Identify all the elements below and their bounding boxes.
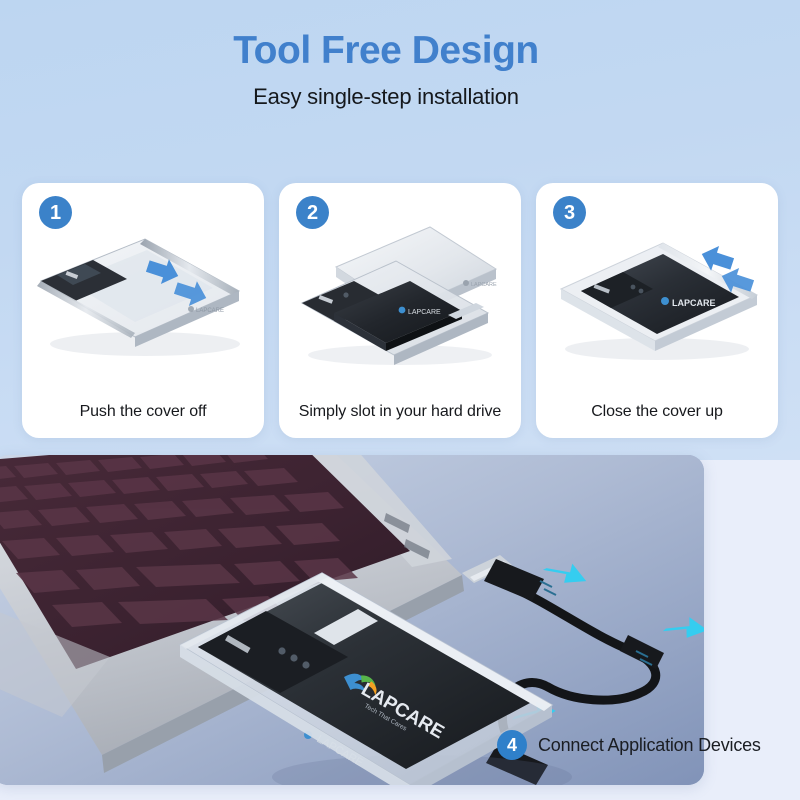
step-card-1[interactable]: 1 (22, 183, 264, 438)
step-card-2[interactable]: 2 (279, 183, 521, 438)
page-header: Tool Free Design Easy single-step instal… (0, 30, 800, 110)
enclosure-closed-icon: LAPCARE (536, 209, 778, 377)
step-badge-2: 2 (296, 196, 329, 229)
page-subtitle: Easy single-step installation (0, 84, 772, 110)
step-caption-2: Simply slot in your hard drive (279, 403, 521, 421)
step-card-3[interactable]: 3 (536, 183, 778, 438)
step-badge-3: 3 (553, 196, 586, 229)
step-4-row: 4 Connect Application Devices (497, 730, 761, 760)
step-badge-4: 4 (497, 730, 527, 760)
step-caption-1: Push the cover off (22, 403, 264, 421)
svg-text:LAPCARE: LAPCARE (196, 308, 224, 314)
enclosure-exploded-icon: LAPCARE LAPCARE (279, 209, 521, 377)
svg-text:LAPCARE: LAPCARE (471, 282, 497, 288)
step-cards-row: 1 (22, 183, 778, 438)
svg-text:LAPCARE: LAPCARE (408, 309, 441, 316)
svg-text:LAPCARE: LAPCARE (672, 298, 716, 308)
page-title: Tool Free Design (0, 30, 772, 73)
step-badge-1: 1 (39, 196, 72, 229)
step-caption-3: Close the cover up (536, 403, 778, 421)
step-4-label: Connect Application Devices (538, 735, 761, 756)
enclosure-open-icon: LAPCARE (22, 209, 264, 377)
